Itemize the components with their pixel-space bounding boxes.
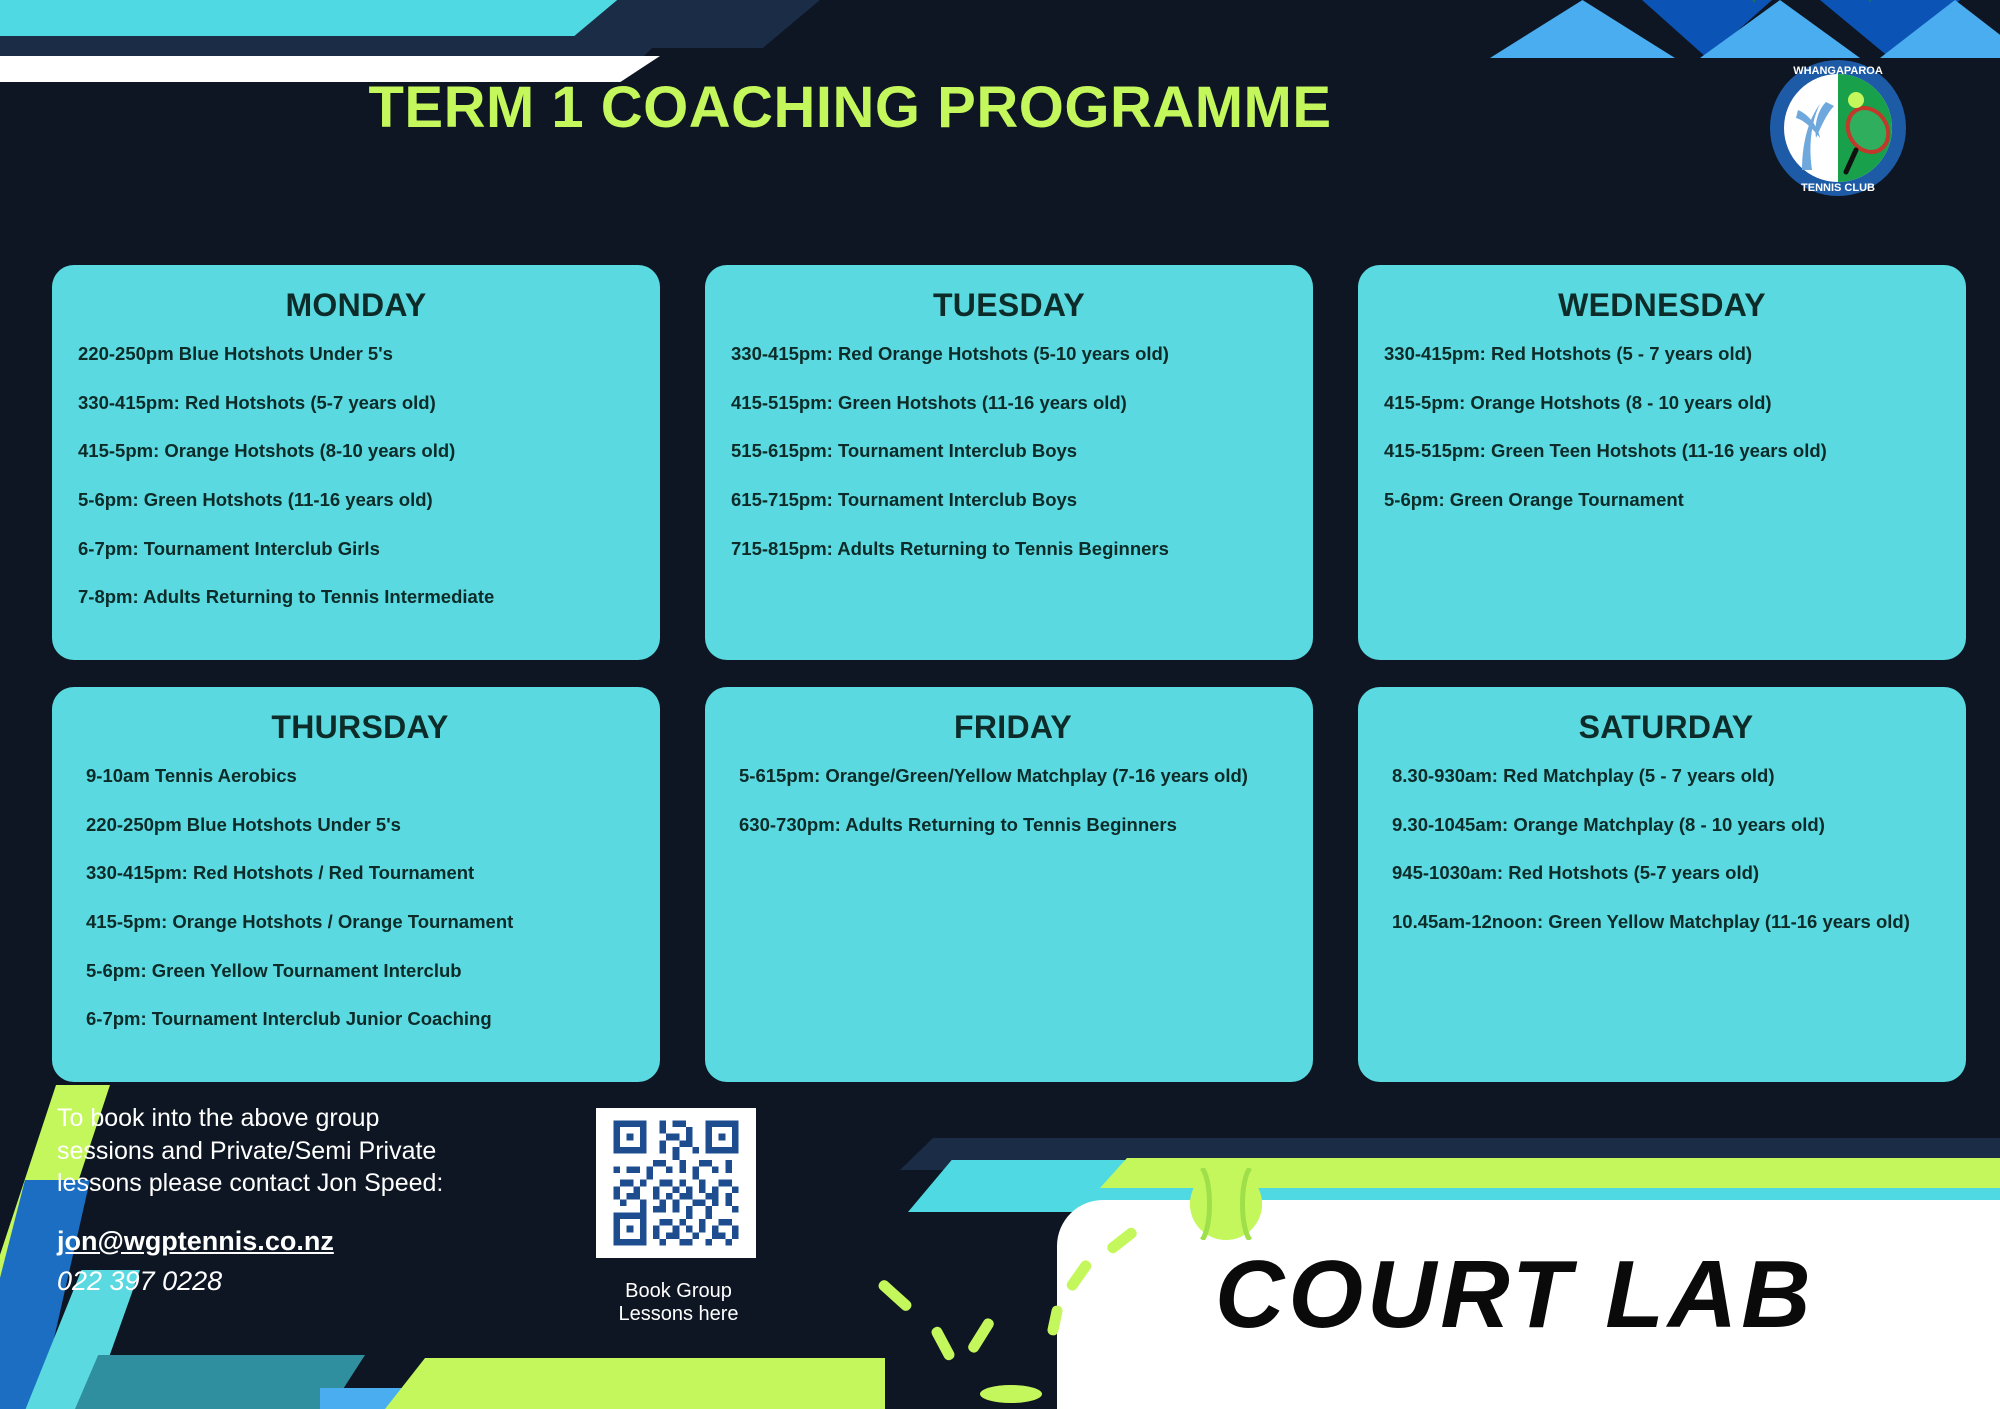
tennis-ball-icon bbox=[1190, 1168, 1262, 1240]
page-title: TERM 1 COACHING PROGRAMME bbox=[0, 74, 1700, 141]
session-list-thursday: 9-10am Tennis Aerobics 220-250pm Blue Ho… bbox=[86, 764, 634, 1031]
ball-splash-dash bbox=[966, 1316, 995, 1354]
day-card-tuesday: TUESDAY 330-415pm: Red Orange Hotshots (… bbox=[705, 265, 1313, 660]
bottom-lime-band bbox=[385, 1358, 885, 1409]
session-item: 415-515pm: Green Teen Hotshots (11-16 ye… bbox=[1384, 439, 1940, 463]
session-item: 6-7pm: Tournament Interclub Girls bbox=[78, 537, 634, 561]
contact-block: To book into the above group sessions an… bbox=[57, 1102, 477, 1297]
day-card-friday: FRIDAY 5-615pm: Orange/Green/Yellow Matc… bbox=[705, 687, 1313, 1082]
session-item: 630-730pm: Adults Returning to Tennis Be… bbox=[739, 813, 1287, 837]
contact-instructions: To book into the above group sessions an… bbox=[57, 1102, 477, 1200]
ball-shadow bbox=[980, 1385, 1042, 1403]
session-item: 5-6pm: Green Orange Tournament bbox=[1384, 488, 1940, 512]
session-list-friday: 5-615pm: Orange/Green/Yellow Matchplay (… bbox=[739, 764, 1287, 836]
qr-code-icon bbox=[602, 1114, 750, 1252]
top-left-cyan-band bbox=[0, 0, 640, 36]
svg-text:WHANGAPAROA: WHANGAPAROA bbox=[1793, 65, 1883, 77]
day-card-wednesday: WEDNESDAY 330-415pm: Red Hotshots (5 - 7… bbox=[1358, 265, 1966, 660]
session-item: 415-5pm: Orange Hotshots / Orange Tourna… bbox=[86, 910, 634, 934]
contact-phone: 022 397 0228 bbox=[57, 1266, 477, 1297]
day-title-monday: MONDAY bbox=[78, 287, 634, 324]
session-item: 330-415pm: Red Hotshots / Red Tournament bbox=[86, 861, 634, 885]
session-item: 5-6pm: Green Hotshots (11-16 years old) bbox=[78, 488, 634, 512]
session-item: 8.30-930am: Red Matchplay (5 - 7 years o… bbox=[1392, 764, 1940, 788]
contact-email-link[interactable]: jon@wgptennis.co.nz bbox=[57, 1226, 334, 1257]
session-item: 945-1030am: Red Hotshots (5-7 years old) bbox=[1392, 861, 1940, 885]
session-item: 330-415pm: Red Hotshots (5-7 years old) bbox=[78, 391, 634, 415]
club-logo: WHANGAPAROA TENNIS CLUB bbox=[1768, 58, 1908, 198]
session-item: 515-615pm: Tournament Interclub Boys bbox=[731, 439, 1287, 463]
day-title-tuesday: TUESDAY bbox=[731, 287, 1287, 324]
day-card-saturday: SATURDAY 8.30-930am: Red Matchplay (5 - … bbox=[1358, 687, 1966, 1082]
session-item: 7-8pm: Adults Returning to Tennis Interm… bbox=[78, 585, 634, 609]
session-list-monday: 220-250pm Blue Hotshots Under 5's 330-41… bbox=[78, 342, 634, 609]
day-title-friday: FRIDAY bbox=[739, 709, 1287, 746]
session-item: 415-5pm: Orange Hotshots (8-10 years old… bbox=[78, 439, 634, 463]
session-item: 6-7pm: Tournament Interclub Junior Coach… bbox=[86, 1007, 634, 1031]
session-item: 415-515pm: Green Hotshots (11-16 years o… bbox=[731, 391, 1287, 415]
session-item: 9.30-1045am: Orange Matchplay (8 - 10 ye… bbox=[1392, 813, 1940, 837]
session-list-tuesday: 330-415pm: Red Orange Hotshots (5-10 yea… bbox=[731, 342, 1287, 560]
ball-splash-dash bbox=[930, 1325, 957, 1362]
session-list-saturday: 8.30-930am: Red Matchplay (5 - 7 years o… bbox=[1392, 764, 1940, 934]
session-item: 330-415pm: Red Hotshots (5 - 7 years old… bbox=[1384, 342, 1940, 366]
top-right-triangle-1 bbox=[1490, 0, 1675, 58]
schedule-grid: MONDAY 220-250pm Blue Hotshots Under 5's… bbox=[52, 265, 1960, 1082]
qr-code[interactable] bbox=[596, 1108, 756, 1258]
session-item: 615-715pm: Tournament Interclub Boys bbox=[731, 488, 1287, 512]
session-item: 9-10am Tennis Aerobics bbox=[86, 764, 634, 788]
day-card-monday: MONDAY 220-250pm Blue Hotshots Under 5's… bbox=[52, 265, 660, 660]
day-title-wednesday: WEDNESDAY bbox=[1384, 287, 1940, 324]
svg-text:TENNIS CLUB: TENNIS CLUB bbox=[1801, 182, 1875, 194]
sponsor-name: COURT LAB bbox=[1215, 1240, 1815, 1350]
session-item: 220-250pm Blue Hotshots Under 5's bbox=[86, 813, 634, 837]
session-item: 220-250pm Blue Hotshots Under 5's bbox=[78, 342, 634, 366]
day-card-thursday: THURSDAY 9-10am Tennis Aerobics 220-250p… bbox=[52, 687, 660, 1082]
qr-caption: Book Group Lessons here bbox=[596, 1280, 761, 1326]
day-title-thursday: THURSDAY bbox=[86, 709, 634, 746]
tennis-ball-seams bbox=[1190, 1168, 1262, 1240]
session-list-wednesday: 330-415pm: Red Hotshots (5 - 7 years old… bbox=[1384, 342, 1940, 512]
session-item: 5-6pm: Green Yellow Tournament Interclub bbox=[86, 959, 634, 983]
ball-splash-dash bbox=[876, 1278, 913, 1313]
qr-block: Book Group Lessons here bbox=[596, 1108, 761, 1326]
session-item: 715-815pm: Adults Returning to Tennis Be… bbox=[731, 537, 1287, 561]
session-item: 5-615pm: Orange/Green/Yellow Matchplay (… bbox=[739, 764, 1287, 788]
day-title-saturday: SATURDAY bbox=[1392, 709, 1940, 746]
session-item: 330-415pm: Red Orange Hotshots (5-10 yea… bbox=[731, 342, 1287, 366]
club-logo-icon: WHANGAPAROA TENNIS CLUB bbox=[1768, 58, 1908, 198]
session-item: 415-5pm: Orange Hotshots (8 - 10 years o… bbox=[1384, 391, 1940, 415]
session-item: 10.45am-12noon: Green Yellow Matchplay (… bbox=[1392, 910, 1940, 934]
